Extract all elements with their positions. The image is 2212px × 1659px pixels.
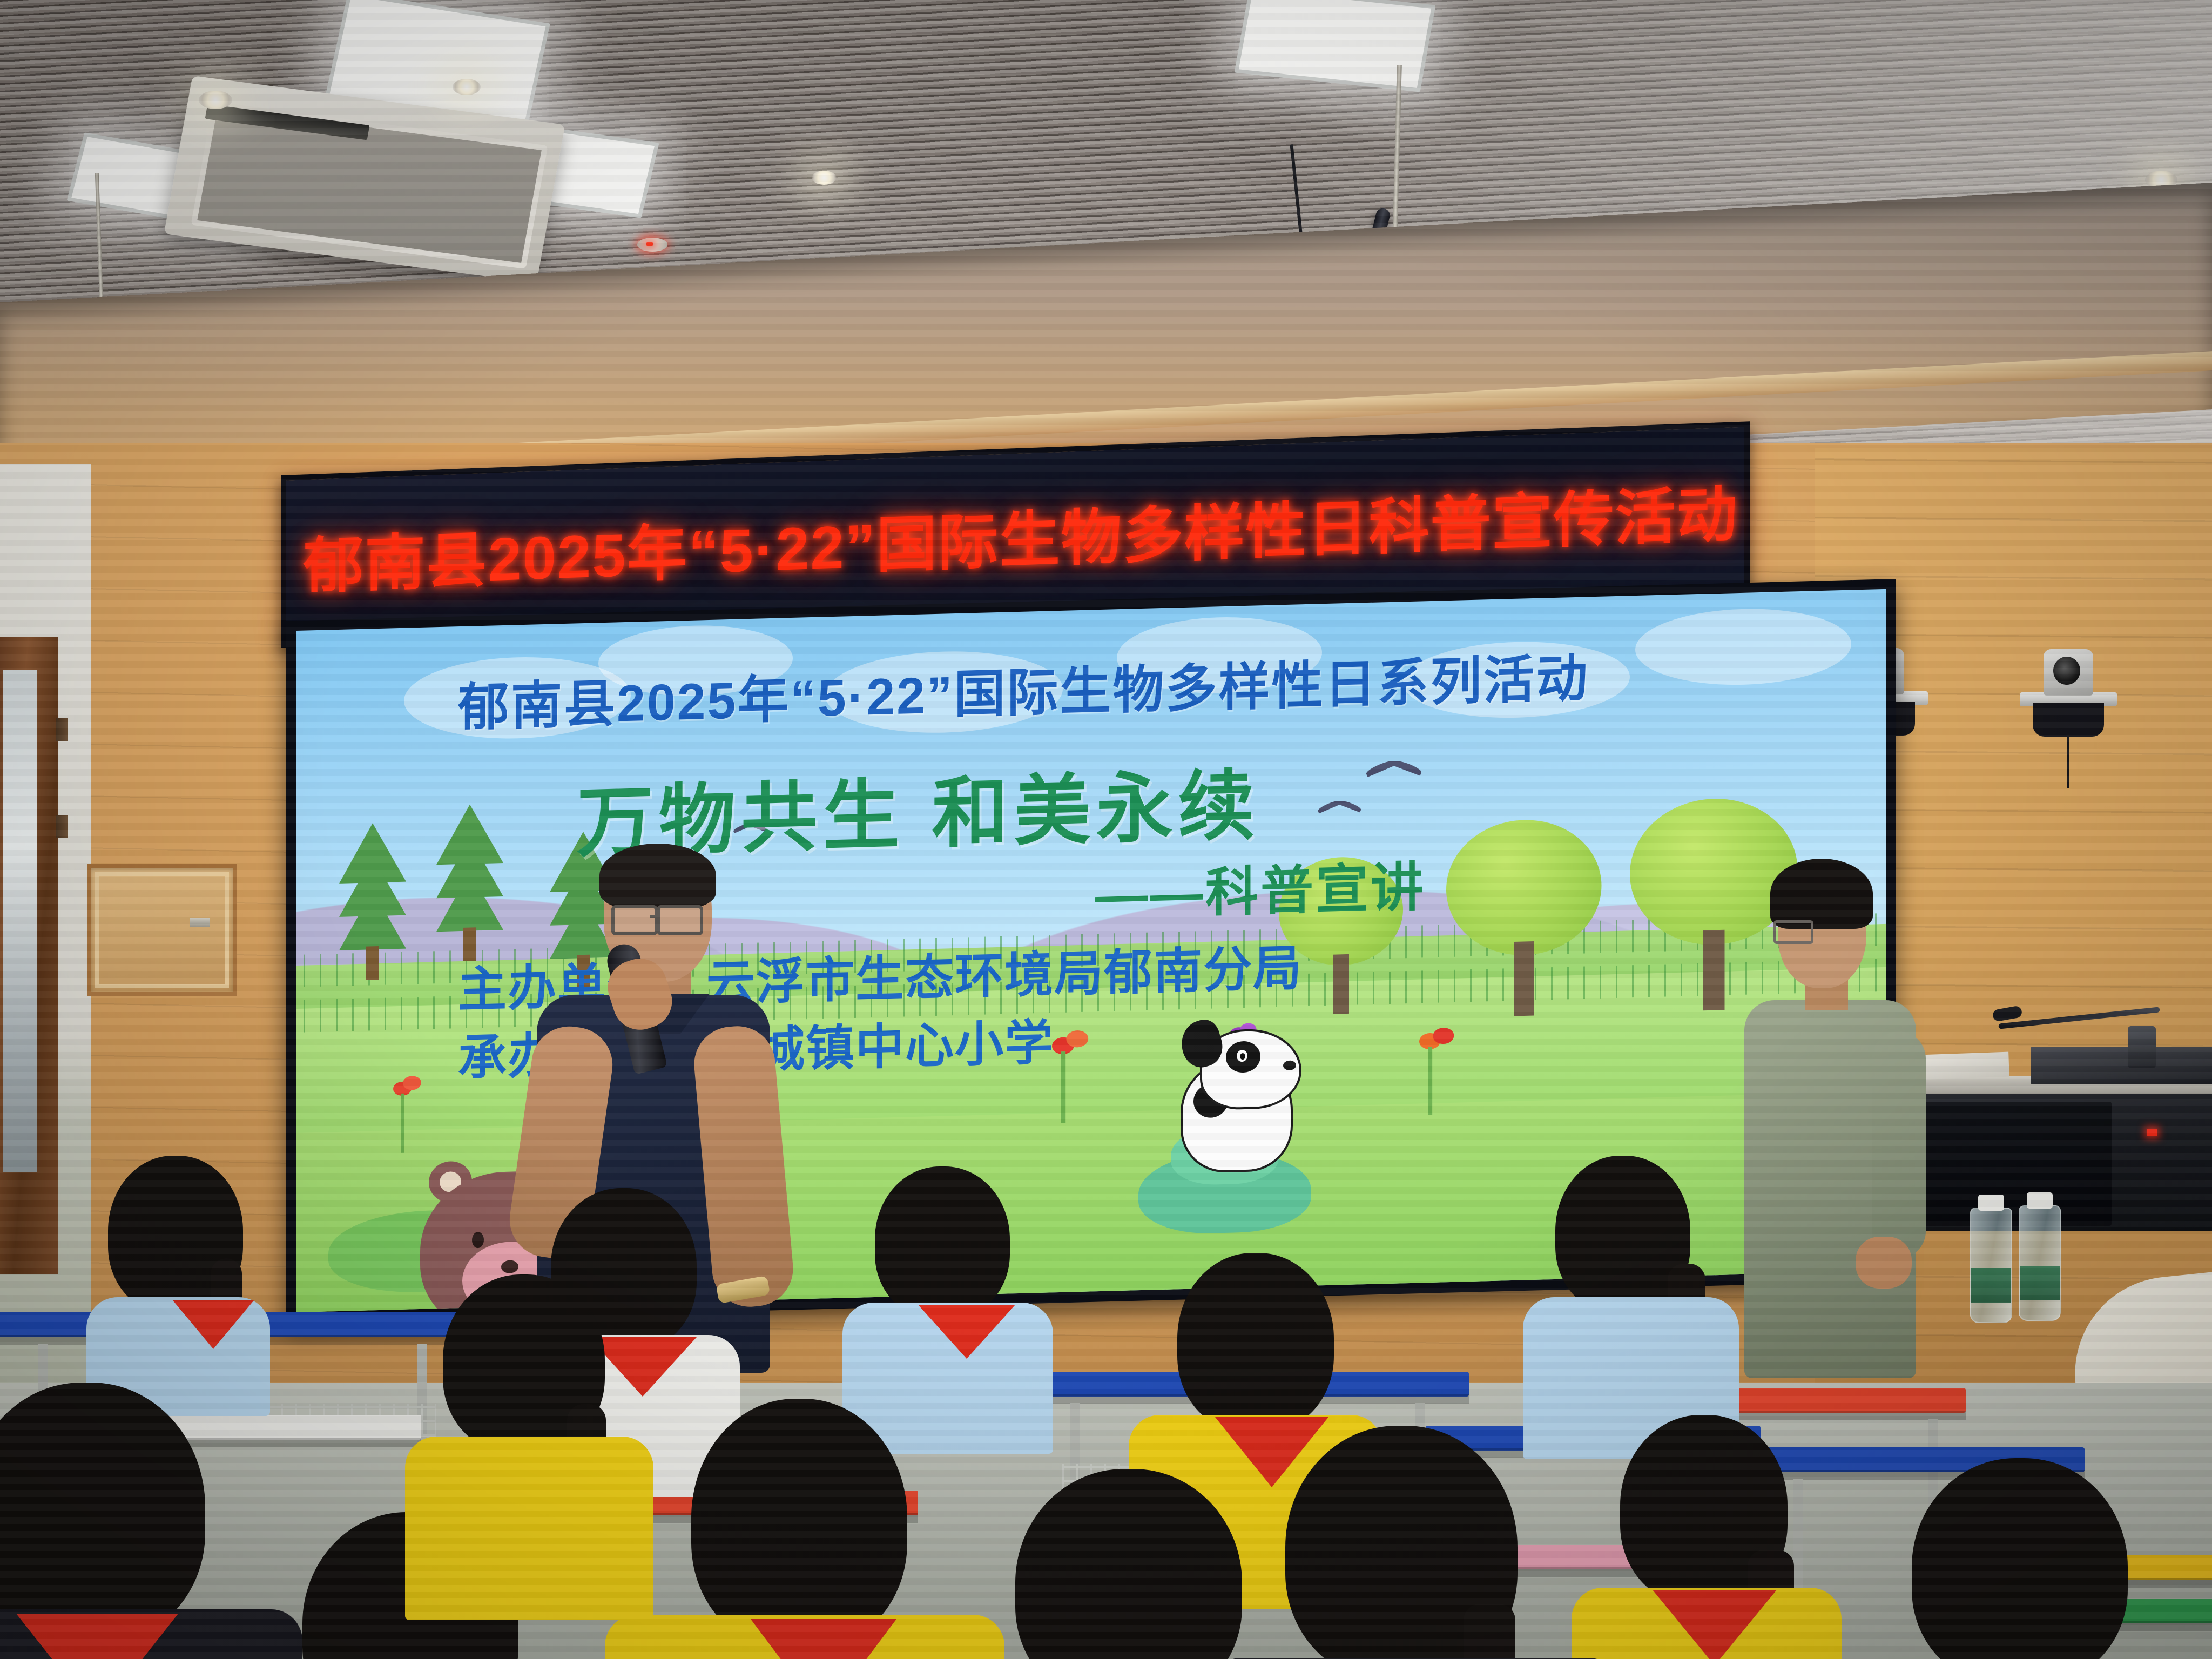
- downlight-icon: [812, 171, 837, 185]
- bottle-label: [1971, 1268, 2011, 1303]
- staff-hair: [1770, 859, 1873, 929]
- water-bottle: [1970, 1208, 2012, 1323]
- water-bottle: [2019, 1205, 2061, 1321]
- access-panel-latch[interactable]: [190, 918, 210, 927]
- bottle-cap: [2027, 1192, 2053, 1209]
- bottle-label: [2020, 1266, 2060, 1300]
- staff-member: [1744, 859, 1923, 1388]
- student-head: [1912, 1458, 2128, 1659]
- glasses-icon: [1773, 920, 1813, 944]
- glasses-bridge: [650, 915, 660, 918]
- bottle-cap: [1978, 1195, 2004, 1211]
- audio-mixer[interactable]: [2031, 1047, 2212, 1084]
- microphone-base: [2128, 1026, 2156, 1068]
- downlight-icon: [453, 79, 481, 95]
- camera-mount: [2033, 703, 2104, 737]
- mixer-power-led: [2147, 1129, 2157, 1136]
- camera-cable: [2067, 734, 2069, 788]
- door-hinge: [56, 815, 68, 838]
- glasses-icon: [611, 905, 658, 935]
- door-glass-panel: [3, 670, 37, 1172]
- camera-lens-icon: [2053, 657, 2080, 685]
- smoke-detector-led: [646, 242, 653, 246]
- presenter-hair: [599, 844, 716, 908]
- dog-illustration: [1170, 1015, 1305, 1170]
- wall-access-panel-frame: [95, 872, 229, 988]
- cloud-shape: [1635, 606, 1851, 687]
- downlight-icon: [199, 91, 232, 109]
- glasses-icon: [657, 905, 703, 935]
- staff-hand: [1856, 1237, 1912, 1289]
- student-head: [0, 1382, 205, 1642]
- student-head: [1177, 1253, 1334, 1431]
- staff-arm: [1872, 1031, 1926, 1258]
- student-shoulders: [405, 1437, 653, 1620]
- door-hinge: [56, 718, 68, 741]
- classroom-scene: 郁南县2025年“5·22”国际生物多样性日科普宣传活动: [0, 0, 2212, 1659]
- slide-subtitle: ——科普宣讲: [1095, 844, 1426, 929]
- ponytail: [1464, 1604, 1515, 1659]
- student-head: [875, 1166, 1010, 1318]
- student-head: [691, 1399, 907, 1647]
